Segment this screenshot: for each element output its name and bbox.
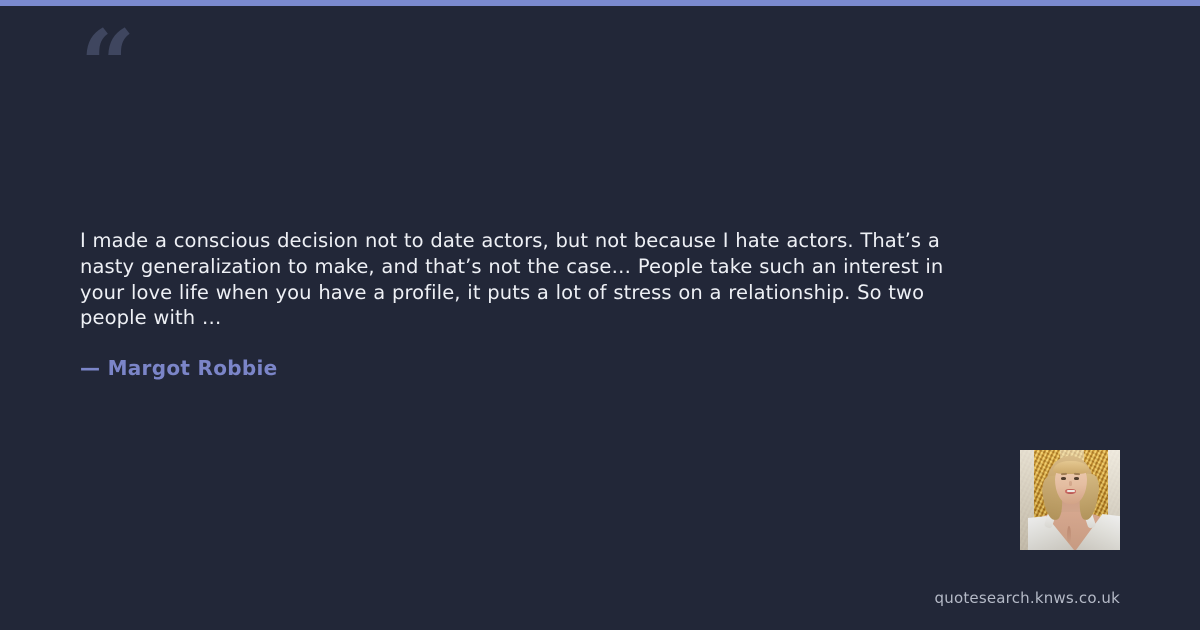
author-portrait-image [1020, 450, 1120, 550]
quote-text: I made a conscious decision not to date … [80, 228, 985, 331]
quote-card: “ I made a conscious decision not to dat… [0, 0, 1200, 630]
portrait-shading [1020, 450, 1120, 550]
site-url: quotesearch.knws.co.uk [935, 589, 1120, 607]
quote-author: — Margot Robbie [80, 356, 278, 380]
top-accent-bar [0, 0, 1200, 6]
quote-open-icon: “ [80, 18, 133, 114]
